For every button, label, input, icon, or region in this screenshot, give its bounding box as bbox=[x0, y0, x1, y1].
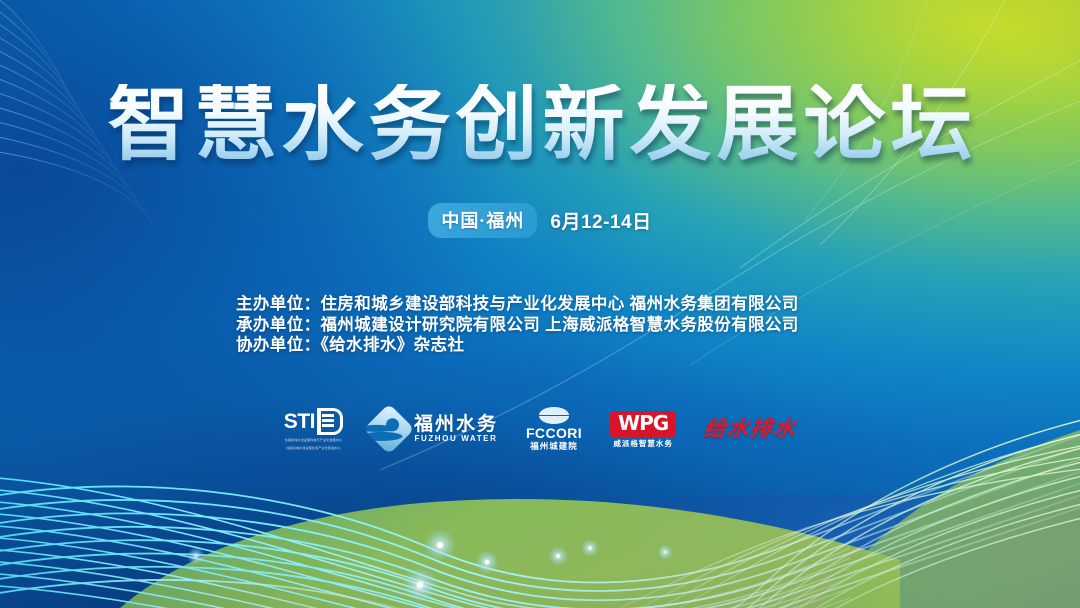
fuzhou-water-wordmark: 福州水务 FUZHOU WATER bbox=[414, 415, 498, 443]
water-supply-drainage-wordmark: 给水排水 bbox=[703, 418, 797, 440]
organizer-line-coorganizer: 协办单位：《给水排水》杂志社 bbox=[236, 335, 799, 356]
logo-wpg: WPG 威派格智慧水务 bbox=[610, 403, 676, 455]
poster-content: 智慧水务创新发展论坛 中国·福州 6月12-14日 主办单位：住房和城乡建设部科… bbox=[0, 0, 1080, 608]
organizers-block: 主办单位：住房和城乡建设部科技与产业化发展中心 福州水务集团有限公司 承办单位：… bbox=[236, 294, 799, 356]
fuzhou-water-en: FUZHOU WATER bbox=[414, 435, 497, 443]
subtitle-row: 中国·福州 6月12-14日 bbox=[0, 203, 1080, 238]
stid-subtitle-line-1: 住房和城乡建设部科技与产业化发展中心 bbox=[285, 438, 343, 443]
wpg-wordmark: WPG bbox=[610, 411, 676, 437]
page-title: 智慧水务创新发展论坛 bbox=[0, 84, 1080, 166]
sponsor-logo-row: STI 住房和城乡建设部科技与产业化发展中心 住房和城乡建设部住宅产业化促进中心… bbox=[0, 400, 1080, 458]
stid-d-icon bbox=[317, 408, 343, 435]
stid-wordmark: STI bbox=[284, 408, 343, 435]
logo-fccori: FCCORI 福州城建院 bbox=[526, 403, 582, 455]
logo-stid: STI 住房和城乡建设部科技与产业化发展中心 住房和城乡建设部住宅产业化促进中心 bbox=[284, 403, 343, 455]
poster-canvas: 智慧水务创新发展论坛 中国·福州 6月12-14日 主办单位：住房和城乡建设部科… bbox=[0, 0, 1080, 608]
fccori-leaf-icon bbox=[539, 407, 569, 424]
organizer-line-host: 主办单位：住房和城乡建设部科技与产业化发展中心 福州水务集团有限公司 bbox=[236, 294, 799, 315]
wpg-cn: 威派格智慧水务 bbox=[613, 440, 673, 448]
fccori-en: FCCORI bbox=[526, 426, 582, 440]
organizer-line-organizer: 承办单位：福州城建设计研究院有限公司 上海威派格智慧水务股份有限公司 bbox=[236, 315, 799, 336]
fuzhou-water-cn: 福州水务 bbox=[414, 415, 498, 434]
subtitle-place-badge: 中国·福州 bbox=[428, 203, 537, 238]
subtitle-date: 6月12-14日 bbox=[550, 207, 651, 234]
stid-letters: STI bbox=[284, 411, 315, 432]
stid-subtitle-line-2: 住房和城乡建设部住宅产业化促进中心 bbox=[286, 446, 340, 451]
water-drop-diamond-icon bbox=[364, 404, 415, 455]
fccori-cn: 福州城建院 bbox=[530, 442, 578, 451]
logo-water-supply-drainage: 给水排水 bbox=[704, 403, 796, 455]
logo-fuzhou-water: 福州水务 FUZHOU WATER bbox=[371, 403, 498, 455]
